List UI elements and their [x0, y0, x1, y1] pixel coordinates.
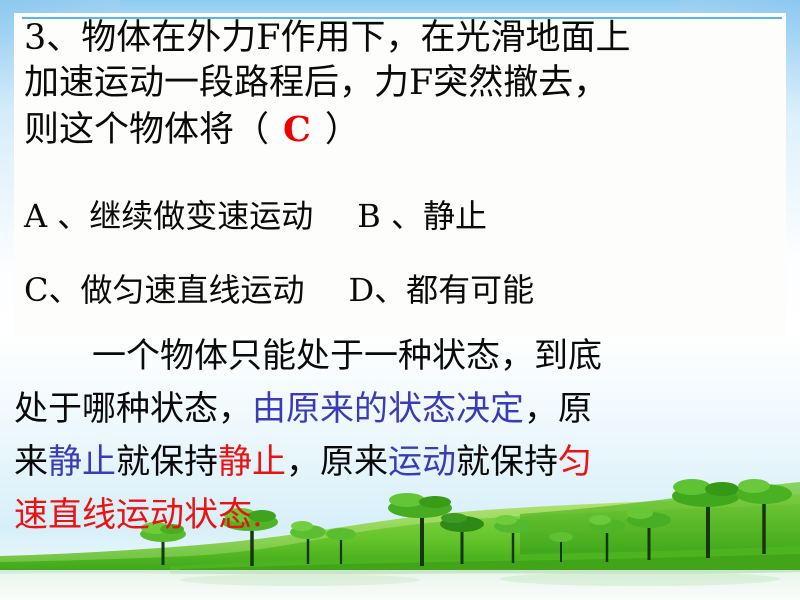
explanation-line-3: 来静止就保持静止，原来运动就保持匀: [14, 443, 592, 481]
explanation-highlight-motion-blue: 运动: [388, 442, 456, 482]
explanation-highlight-determined-by-original-state: 由原来的状态决定: [252, 389, 524, 429]
explanation-line-1: 一个物体只能处于一种状态，到底: [92, 337, 602, 375]
option-b[interactable]: B 、静止: [357, 197, 487, 235]
option-row-2: C、做匀速直线运动D、都有可能: [24, 272, 534, 308]
explanation-line-2-part-2: ，原: [524, 389, 592, 429]
question-stem-line-3-after: ）: [325, 110, 360, 150]
explanation-line-3-part-4: 就保持: [456, 442, 558, 482]
slide-root: 3、物体在外力F作用下，在光滑地面上 加速运动一段路程后，力F突然撤去， 则这个…: [0, 0, 800, 600]
option-c[interactable]: C、做匀速直线运动: [24, 271, 305, 309]
explanation-line-3-part-1: 来: [14, 442, 48, 482]
question-stem-line-2: 加速运动一段路程后，力F突然撤去，: [24, 63, 608, 103]
question-stem-line-1: 3、物体在外力F作用下，在光滑地面上: [24, 18, 631, 58]
explanation-line-3-part-2: 就保持: [116, 442, 218, 482]
option-row-1: A 、继续做变速运动B 、静止: [24, 198, 487, 234]
explanation-line-3-part-3: ，原来: [286, 442, 388, 482]
explanation-line-4: 速直线运动状态.: [14, 496, 263, 534]
explanation-highlight-rest-blue: 静止: [48, 442, 116, 482]
landscape-illustration: [0, 470, 800, 600]
explanation-highlight-uniform-red-start: 匀: [558, 442, 592, 482]
explanation-line-2: 处于哪种状态，由原来的状态决定，原: [14, 390, 592, 428]
explanation-line-2-part-1: 处于哪种状态，: [14, 389, 252, 429]
option-a[interactable]: A 、继续做变速运动: [24, 197, 313, 235]
explanation-highlight-rest-red: 静止: [218, 442, 286, 482]
question-stem-line-3-before: 则这个物体将（: [24, 110, 269, 150]
option-d[interactable]: D、都有可能: [349, 271, 535, 309]
question-stem-line-3: 则这个物体将（C）: [24, 110, 360, 150]
answer-letter: C: [269, 109, 325, 150]
